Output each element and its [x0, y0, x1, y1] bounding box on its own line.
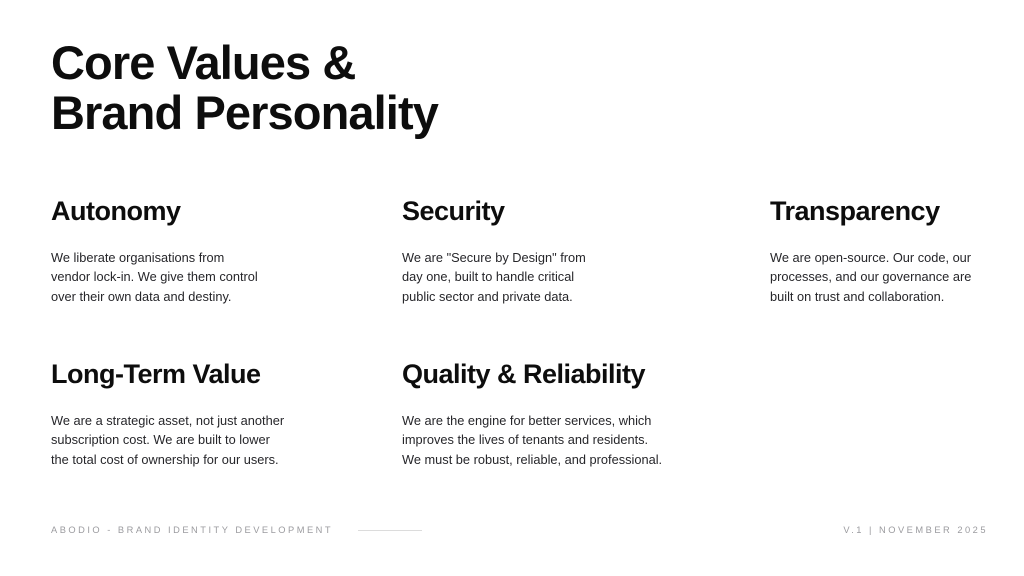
- value-block-autonomy: Autonomy We liberate organisations from …: [51, 196, 258, 306]
- slide-canvas: Core Values & Brand Personality Autonomy…: [0, 0, 1024, 576]
- value-body-autonomy: We liberate organisations from vendor lo…: [51, 226, 258, 306]
- page-title: Core Values & Brand Personality: [51, 38, 438, 138]
- value-body-security: We are "Secure by Design" from day one, …: [402, 226, 586, 306]
- value-block-transparency: Transparency We are open-source. Our cod…: [770, 196, 971, 306]
- value-heading-autonomy: Autonomy: [51, 196, 258, 226]
- footer-divider-rule: [358, 530, 422, 531]
- value-body-quality-reliability: We are the engine for better services, w…: [402, 389, 662, 469]
- value-heading-quality-reliability: Quality & Reliability: [402, 359, 662, 389]
- value-heading-transparency: Transparency: [770, 196, 971, 226]
- value-body-transparency: We are open-source. Our code, our proces…: [770, 226, 971, 306]
- footer-brand-label: ABODIO - BRAND IDENTITY DEVELOPMENT: [51, 525, 333, 535]
- values-row-1: Autonomy We liberate organisations from …: [0, 196, 1024, 359]
- value-block-quality-reliability: Quality & Reliability We are the engine …: [402, 359, 662, 469]
- value-block-long-term-value: Long-Term Value We are a strategic asset…: [51, 359, 284, 469]
- values-grid: Autonomy We liberate organisations from …: [0, 196, 1024, 479]
- values-row-2: Long-Term Value We are a strategic asset…: [0, 359, 1024, 479]
- value-body-long-term-value: We are a strategic asset, not just anoth…: [51, 389, 284, 469]
- value-block-security: Security We are "Secure by Design" from …: [402, 196, 586, 306]
- footer-version-date: V.1 | NOVEMBER 2025: [843, 525, 988, 535]
- value-heading-long-term-value: Long-Term Value: [51, 359, 284, 389]
- slide-footer: ABODIO - BRAND IDENTITY DEVELOPMENT V.1 …: [51, 521, 988, 539]
- value-heading-security: Security: [402, 196, 586, 226]
